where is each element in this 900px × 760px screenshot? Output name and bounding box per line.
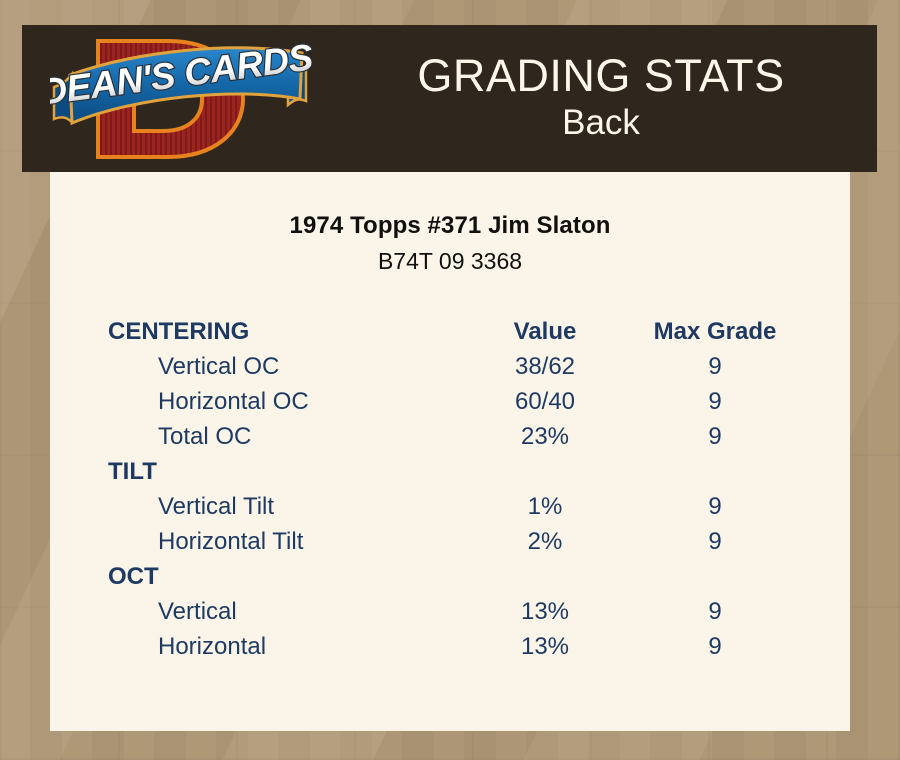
card-title: 1974 Topps #371 Jim Slaton xyxy=(50,212,850,240)
stat-value: 1% xyxy=(455,489,635,524)
stat-max-grade: 9 xyxy=(635,349,795,384)
stat-max-grade: 9 xyxy=(635,524,795,559)
table-row: Vertical13%9 xyxy=(105,594,795,629)
stats-section-header: TILT xyxy=(105,454,795,489)
column-header-max-grade: Max Grade xyxy=(635,314,795,349)
card-code: B74T 09 3368 xyxy=(50,248,850,275)
section-name: TILT xyxy=(105,454,455,489)
grading-stats-table: CENTERINGValueMax GradeVertical OC38/629… xyxy=(105,314,795,664)
table-row: Vertical OC38/629 xyxy=(105,349,795,384)
grading-stats-page: DEAN'S CARDS GRADING STATS Back 1974 Top… xyxy=(0,0,900,760)
section-name: OCT xyxy=(105,559,455,594)
table-row: Vertical Tilt1%9 xyxy=(105,489,795,524)
header-bar: DEAN'S CARDS GRADING STATS Back xyxy=(22,25,877,172)
stat-max-grade: 9 xyxy=(635,629,795,664)
deans-cards-logo: DEAN'S CARDS xyxy=(50,27,325,172)
table-row: Horizontal OC60/409 xyxy=(105,384,795,419)
stat-max-grade: 9 xyxy=(635,489,795,524)
column-header-max-grade xyxy=(635,454,795,489)
stats-section-header: CENTERINGValueMax Grade xyxy=(105,314,795,349)
stat-label: Total OC xyxy=(105,419,455,454)
stat-label: Horizontal OC xyxy=(105,384,455,419)
section-name: CENTERING xyxy=(105,314,455,349)
table-row: Total OC23%9 xyxy=(105,419,795,454)
page-title: GRADING STATS xyxy=(417,53,784,100)
stat-label: Vertical xyxy=(105,594,455,629)
stat-value: 2% xyxy=(455,524,635,559)
stat-value: 13% xyxy=(455,594,635,629)
table-row: Horizontal Tilt2%9 xyxy=(105,524,795,559)
column-header-value: Value xyxy=(455,314,635,349)
deans-cards-logo-svg: DEAN'S CARDS xyxy=(50,27,325,172)
stat-label: Vertical OC xyxy=(105,349,455,384)
stat-value: 23% xyxy=(455,419,635,454)
column-header-value xyxy=(455,454,635,489)
stat-max-grade: 9 xyxy=(635,419,795,454)
column-header-max-grade xyxy=(635,559,795,594)
stat-label: Horizontal xyxy=(105,629,455,664)
content-panel: 1974 Topps #371 Jim Slaton B74T 09 3368 … xyxy=(50,172,850,731)
stat-max-grade: 9 xyxy=(635,594,795,629)
header-title-group: GRADING STATS Back xyxy=(325,25,877,172)
stat-max-grade: 9 xyxy=(635,384,795,419)
stat-label: Vertical Tilt xyxy=(105,489,455,524)
stat-value: 38/62 xyxy=(455,349,635,384)
table-row: Horizontal13%9 xyxy=(105,629,795,664)
stat-value: 60/40 xyxy=(455,384,635,419)
stats-section-header: OCT xyxy=(105,559,795,594)
stat-value: 13% xyxy=(455,629,635,664)
stat-label: Horizontal Tilt xyxy=(105,524,455,559)
page-subtitle-side: Back xyxy=(562,102,640,143)
column-header-value xyxy=(455,559,635,594)
